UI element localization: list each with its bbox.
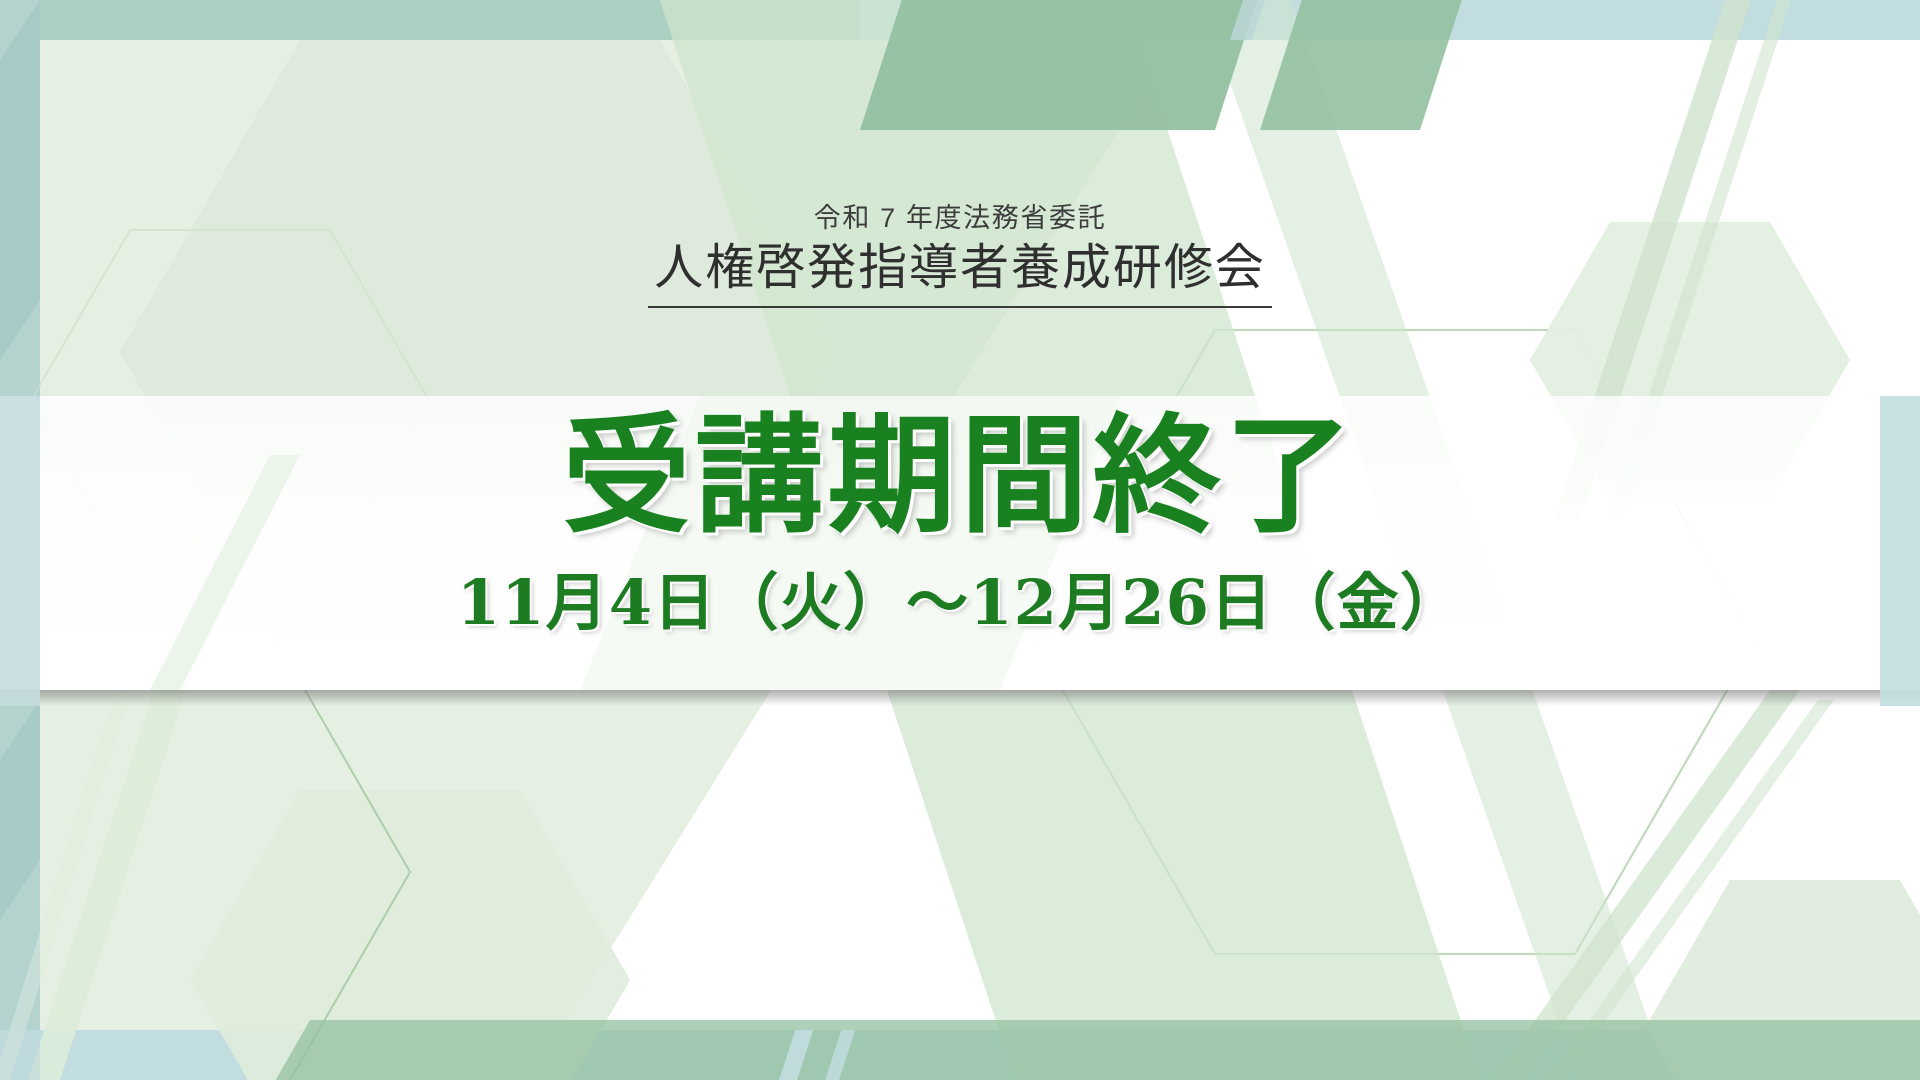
poster-content: 令和 7 年度法務省委託 人権啓発指導者養成研修会 受講期間終了 11月4日（火… (0, 0, 1920, 1080)
course-title-block: 人権啓発指導者養成研修会 (0, 240, 1920, 308)
poster-canvas: 令和 7 年度法務省委託 人権啓発指導者養成研修会 受講期間終了 11月4日（火… (0, 0, 1920, 1080)
status-headline: 受講期間終了 (0, 412, 1920, 540)
date-range: 11月4日（火）～12月26日（金） (0, 572, 1920, 634)
fiscal-year-commission-label: 令和 7 年度法務省委託 (0, 196, 1920, 235)
course-title: 人権啓発指導者養成研修会 (648, 240, 1272, 308)
